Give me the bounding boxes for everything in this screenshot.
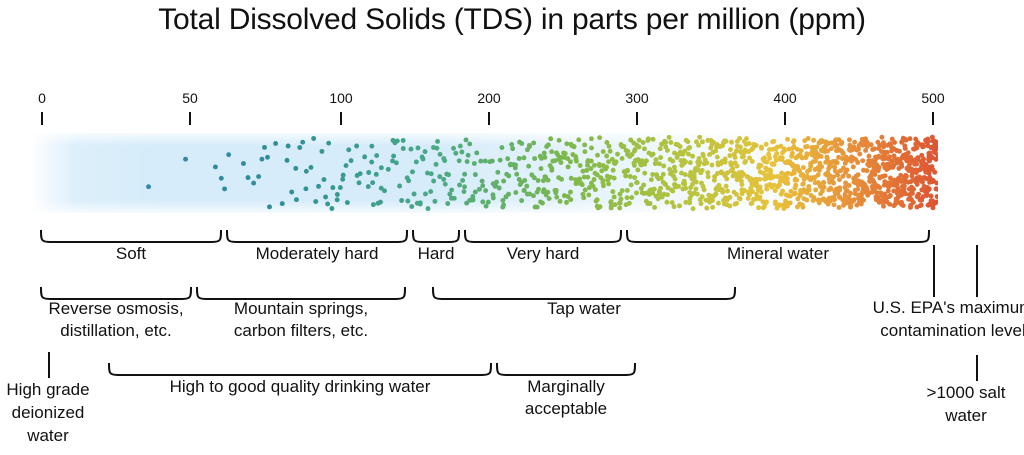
tds-dot (811, 138, 816, 143)
tds-dot (326, 141, 331, 146)
tds-dot (467, 141, 472, 146)
tds-dot (500, 205, 505, 210)
tds-dot (693, 186, 698, 191)
tds-dot (856, 172, 861, 177)
tds-dot (906, 150, 911, 155)
axis-tick-mark-300 (636, 112, 638, 125)
tds-dot (679, 158, 684, 163)
tds-dot (782, 148, 787, 153)
tds-dot (558, 199, 563, 204)
tds-dot (749, 201, 754, 206)
tds-dot (531, 193, 536, 198)
tds-dot (319, 149, 324, 154)
bracket-moderately-hard (226, 222, 408, 244)
tds-dot (449, 188, 454, 193)
tds-dot (595, 153, 600, 158)
tds-dot (710, 205, 715, 210)
tds-dot (750, 159, 755, 164)
annotation-epa: U.S. EPA's maximum contamination level (838, 296, 1024, 342)
tds-dot (374, 153, 379, 158)
tds-dot (722, 138, 727, 143)
tds-dot (661, 172, 666, 177)
tds-dot (641, 140, 646, 145)
tds-dot (827, 163, 832, 168)
tds-dot (687, 200, 692, 205)
tds-dot (531, 140, 536, 145)
tds-dot (799, 148, 804, 153)
tds-dot (869, 142, 874, 147)
tds-dot (506, 173, 511, 178)
tds-dot (651, 137, 656, 142)
tds-dot (692, 175, 697, 180)
tds-dot (851, 198, 856, 203)
tds-dot (652, 187, 657, 192)
tds-dot (329, 206, 334, 211)
tds-dot (501, 179, 506, 184)
tds-dot (592, 163, 597, 168)
tds-dot (741, 154, 746, 159)
tds-dot (462, 172, 467, 177)
annotation-deionized-line1: High grade (0, 378, 123, 401)
tds-dot (429, 171, 434, 176)
tds-dot (522, 178, 527, 183)
tds-dot (634, 180, 639, 185)
tds-dot (564, 200, 569, 205)
tds-dot (792, 171, 797, 176)
tds-dot (559, 177, 564, 182)
tds-dot (899, 164, 904, 169)
tds-dot (667, 135, 672, 140)
tds-dot (357, 180, 362, 185)
tds-dot (749, 147, 754, 152)
tds-dot (902, 143, 907, 148)
tds-dot (679, 163, 684, 168)
tds-dot (794, 178, 799, 183)
tds-dot (688, 160, 693, 165)
tds-dot (265, 155, 270, 160)
tds-dot (406, 178, 411, 183)
tds-dot (345, 200, 350, 205)
tds-dot (584, 168, 589, 173)
tds-dot (580, 192, 585, 197)
tds-dot (609, 199, 614, 204)
tds-dot (146, 184, 151, 189)
tds-dot (819, 154, 824, 159)
tds-dot (374, 172, 379, 177)
tds-dot (832, 197, 837, 202)
bracket-label-mountain-springs-carbon-filters-etc: Mountain springs,carbon filters, etc. (234, 298, 368, 342)
tds-dot (459, 150, 464, 155)
annotation-epa-line1: U.S. EPA's maximum (838, 296, 1024, 319)
tds-dot (405, 199, 410, 204)
tds-dot (464, 137, 469, 142)
tds-dot (625, 188, 630, 193)
annotation-epa-line2: contamination level (838, 319, 1024, 342)
tds-dot (792, 191, 797, 196)
tds-dot (663, 140, 668, 145)
bracket-label-line2: distillation, etc. (48, 320, 183, 342)
tds-dot (395, 138, 400, 143)
tds-dot (480, 179, 485, 184)
bracket-label-hard: Hard (418, 243, 455, 265)
tds-dot (804, 198, 809, 203)
tds-dot (761, 205, 766, 210)
axis-tick-mark-500 (932, 112, 934, 125)
tds-dot (716, 201, 721, 206)
tds-dot (369, 160, 374, 165)
tds-dot (401, 146, 406, 151)
tds-dot (580, 182, 585, 187)
tds-dot (642, 146, 647, 151)
tds-dot (718, 186, 723, 191)
tds-dot (346, 147, 351, 152)
tds-dot (435, 139, 440, 144)
axis-tick-label-500: 500 (921, 90, 944, 106)
axis-tick-mark-100 (340, 112, 342, 125)
tds-dot (766, 152, 771, 157)
tds-dot (683, 186, 688, 191)
tds-dot (536, 187, 541, 192)
axis-tick-mark-400 (784, 112, 786, 125)
deionized-leader-line (48, 352, 50, 378)
tds-dot (386, 167, 391, 172)
tds-dot (886, 188, 891, 193)
tds-dot (634, 190, 639, 195)
tds-dot (498, 158, 503, 163)
tds-dot (592, 177, 597, 182)
tds-dot (788, 200, 793, 205)
axis-tick-mark-50 (189, 112, 191, 125)
tds-dot (416, 145, 421, 150)
tds-dot (354, 144, 359, 149)
tds-dot (452, 196, 457, 201)
tds-dot (872, 146, 877, 151)
tds-dot (642, 171, 647, 176)
axis-tick-label-50: 50 (182, 90, 198, 106)
tds-dot (618, 197, 623, 202)
tds-dot (471, 198, 476, 203)
tds-dot (510, 146, 515, 151)
tds-dot (262, 145, 267, 150)
bracket-soft (40, 222, 222, 244)
tds-dot (458, 144, 463, 149)
tds-dot (863, 136, 868, 141)
tds-dot (586, 192, 591, 197)
tds-dot (742, 188, 747, 193)
tds-dot (797, 169, 802, 174)
tds-dot (566, 164, 571, 169)
tds-dot (800, 202, 805, 207)
tds-dot (294, 197, 299, 202)
tds-dot (661, 180, 666, 185)
tds-dot (678, 144, 683, 149)
tds-dot (685, 139, 690, 144)
tds-dot (918, 203, 923, 208)
tds-dot (563, 151, 568, 156)
tds-dot (514, 172, 519, 177)
bracket-high-to-good-quality-drinking-water (108, 355, 492, 377)
page-title: Total Dissolved Solids (TDS) in parts pe… (0, 2, 1024, 38)
tds-dot (733, 160, 738, 165)
tds-dot (606, 181, 611, 186)
tds-dot (289, 190, 294, 195)
tds-dot (770, 139, 775, 144)
annotation-salt-water: >1000 salt water (886, 381, 1024, 427)
tds-dot (300, 140, 305, 145)
tds-dot (710, 198, 715, 203)
tds-dot (366, 170, 371, 175)
tds-dot (629, 195, 634, 200)
tds-dot (316, 184, 321, 189)
tds-dot (349, 158, 354, 163)
tds-dot (892, 140, 897, 145)
tds-dot (623, 173, 628, 178)
tds-dot (443, 182, 448, 187)
tds-dot (688, 185, 693, 190)
tds-dot (325, 201, 330, 206)
tds-dot (608, 149, 613, 154)
tds-dot (770, 161, 775, 166)
tds-dot (613, 202, 618, 207)
tds-dot (577, 177, 582, 182)
tds-dot (792, 138, 797, 143)
tds-dot (688, 196, 693, 201)
tds-dot (568, 190, 573, 195)
tds-dot (670, 189, 675, 194)
tds-dot (873, 172, 878, 177)
tds-dot (911, 187, 916, 192)
tds-dot (932, 170, 937, 175)
tds-dot (658, 186, 663, 191)
tds-dot (901, 203, 906, 208)
tds-dot (819, 164, 824, 169)
tds-dot (451, 146, 456, 151)
tds-dot (547, 196, 552, 201)
tds-dot (222, 186, 227, 191)
tds-dot (370, 180, 375, 185)
tds-dot (358, 171, 363, 176)
tds-dot (412, 192, 417, 197)
tds-dot (382, 188, 387, 193)
tds-dot (259, 157, 264, 162)
bracket-mineral-water (626, 222, 930, 244)
tds-dot (727, 204, 732, 209)
tds-dot (839, 148, 844, 153)
tds-dot (914, 162, 919, 167)
tds-dot (777, 182, 782, 187)
tds-dot (709, 163, 714, 168)
tds-dot (462, 189, 467, 194)
tds-dot (585, 175, 590, 180)
tds-dot (568, 159, 573, 164)
tds-dot (676, 184, 681, 189)
tds-dot (420, 155, 425, 160)
tds-dot (725, 189, 730, 194)
bracket-label-soft: Soft (116, 243, 146, 265)
tds-dot (462, 184, 467, 189)
tds-dot (423, 191, 428, 196)
tds-dot (646, 136, 651, 141)
tds-dot (738, 144, 743, 149)
tds-dot (737, 136, 742, 141)
tds-dot (486, 200, 491, 205)
tds-dot (835, 143, 840, 148)
tds-dot (582, 149, 587, 154)
tds-dot (759, 145, 764, 150)
tds-dot (628, 174, 633, 179)
tds-dot (437, 174, 442, 179)
tds-dot (251, 181, 256, 186)
tds-dot (683, 172, 688, 177)
tds-dot (704, 160, 709, 165)
tds-dot (738, 196, 743, 201)
tds-dot (505, 156, 510, 161)
tds-dot (441, 177, 446, 182)
tds-dot (335, 192, 340, 197)
tds-dot (453, 151, 458, 156)
tds-dot (846, 174, 851, 179)
tds-dot (902, 190, 907, 195)
tds-dot (843, 161, 848, 166)
axis-tick-label-200: 200 (477, 90, 500, 106)
tds-dot (617, 206, 622, 211)
tds-dot (800, 172, 805, 177)
tds-dot (632, 163, 637, 168)
tds-dot (758, 185, 763, 190)
tds-dot (303, 186, 308, 191)
tds-dot (483, 159, 488, 164)
tds-dot (785, 137, 790, 142)
tds-dot (612, 176, 617, 181)
tds-dot (640, 190, 645, 195)
tds-dot (785, 176, 790, 181)
annotation-salt-line2: water (886, 404, 1024, 427)
tds-dot (509, 142, 514, 147)
dot-field (30, 133, 938, 213)
tds-dot (779, 192, 784, 197)
tds-dot (733, 155, 738, 160)
tds-dot (728, 147, 733, 152)
tds-dot (341, 173, 346, 178)
tds-dot (730, 166, 735, 171)
epa-leader-line-left (933, 245, 935, 297)
tds-dot (513, 165, 518, 170)
tds-dot (642, 162, 647, 167)
tds-dot (852, 140, 857, 145)
tds-dot (855, 160, 860, 165)
tds-dot (773, 154, 778, 159)
axis-tick-label-0: 0 (38, 90, 46, 106)
tds-dot (764, 200, 769, 205)
tds-dot (879, 135, 884, 140)
tds-dot (694, 139, 699, 144)
tds-dot (875, 140, 880, 145)
tds-dot (397, 184, 402, 189)
tds-dot (513, 190, 518, 195)
tds-dot (540, 201, 545, 206)
tds-dot (612, 195, 617, 200)
tds-dot (460, 178, 465, 183)
tds-dot (847, 183, 852, 188)
tds-dot (226, 152, 231, 157)
tds-dot (438, 152, 443, 157)
tds-dot (491, 195, 496, 200)
bracket-label-line1: Reverse osmosis, (48, 298, 183, 320)
tds-dot (670, 159, 675, 164)
tds-dot (785, 181, 790, 186)
tds-dot (554, 195, 559, 200)
tds-dot (727, 153, 732, 158)
tds-dot (658, 155, 663, 160)
tds-dot (637, 144, 642, 149)
tds-dot (610, 189, 615, 194)
tds-dot (812, 176, 817, 181)
tds-dot (604, 165, 609, 170)
bracket-label-reverse-osmosis-distillation-etc: Reverse osmosis,distillation, etc. (48, 298, 183, 342)
tds-dot (323, 195, 328, 200)
tds-dot (457, 158, 462, 163)
tds-dot (369, 144, 374, 149)
tds-dot (625, 169, 630, 174)
tds-dot (821, 180, 826, 185)
tds-dot (410, 169, 415, 174)
tds-dot (497, 186, 502, 191)
tds-dot (273, 141, 278, 146)
annotation-salt-line1: >1000 salt (886, 381, 1024, 404)
tds-dot (696, 156, 701, 161)
tds-dot (582, 142, 587, 147)
tds-dot (756, 205, 761, 210)
tds-dot (724, 176, 729, 181)
tds-dot (747, 141, 752, 146)
tds-dot (607, 144, 612, 149)
tds-dot (801, 165, 806, 170)
tds-dot (418, 200, 423, 205)
tds-dot (700, 139, 705, 144)
tds-dot (924, 193, 929, 198)
tds-dot (648, 201, 653, 206)
tds-dot (591, 184, 596, 189)
tds-dot (860, 197, 865, 202)
tds-dot (267, 204, 272, 209)
tds-dot (682, 179, 687, 184)
tds-dot (431, 179, 436, 184)
tds-infographic: Total Dissolved Solids (TDS) in parts pe… (0, 0, 1024, 455)
tds-dot (545, 190, 550, 195)
tds-dot (409, 147, 414, 152)
tds-dot (549, 168, 554, 173)
annotation-deionized-line2: deionized (0, 401, 123, 424)
tds-dot (877, 185, 882, 190)
tds-dot (338, 185, 343, 190)
tds-dot (848, 191, 853, 196)
tds-dot (527, 143, 532, 148)
tds-dot (847, 137, 852, 142)
tds-dot (521, 155, 526, 160)
tds-dot (546, 178, 551, 183)
tds-dot (851, 164, 856, 169)
tds-dot (927, 151, 932, 156)
tds-dot (483, 188, 488, 193)
tds-dot (887, 202, 892, 207)
tds-dot (625, 149, 630, 154)
tds-dot (256, 174, 261, 179)
tds-dot (297, 145, 302, 150)
tds-dot (757, 195, 762, 200)
bracket-marginally-acceptable (496, 355, 636, 377)
tds-dot (391, 154, 396, 159)
tds-dot (401, 138, 406, 143)
